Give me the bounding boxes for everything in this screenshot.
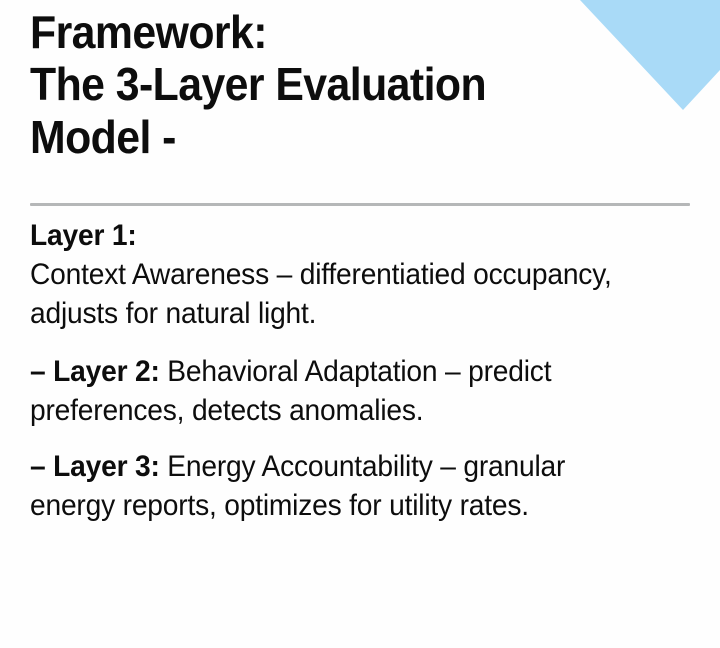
layer-item-3: – Layer 3: Energy Accountability – granu…: [30, 447, 649, 525]
title-block: Framework: The 3-Layer Evaluation Model …: [30, 6, 630, 163]
layer-item-2: – Layer 2: Behavioral Adaptation – predi…: [30, 352, 649, 430]
layer-1-heading: Layer 1:: [30, 216, 649, 255]
layer-2-heading: – Layer 2:: [30, 355, 160, 388]
layer-item-1: Layer 1:Context Awareness – differentiat…: [30, 216, 649, 334]
layer-3-heading: – Layer 3:: [30, 450, 160, 483]
slide-canvas: Framework: The 3-Layer Evaluation Model …: [0, 0, 720, 648]
title-divider-rule: [30, 203, 690, 206]
layer-list: Layer 1:Context Awareness – differentiat…: [30, 216, 678, 526]
page-title: Framework: The 3-Layer Evaluation Model …: [30, 6, 588, 163]
layer-1-description: Context Awareness – differentiatied occu…: [30, 258, 612, 330]
